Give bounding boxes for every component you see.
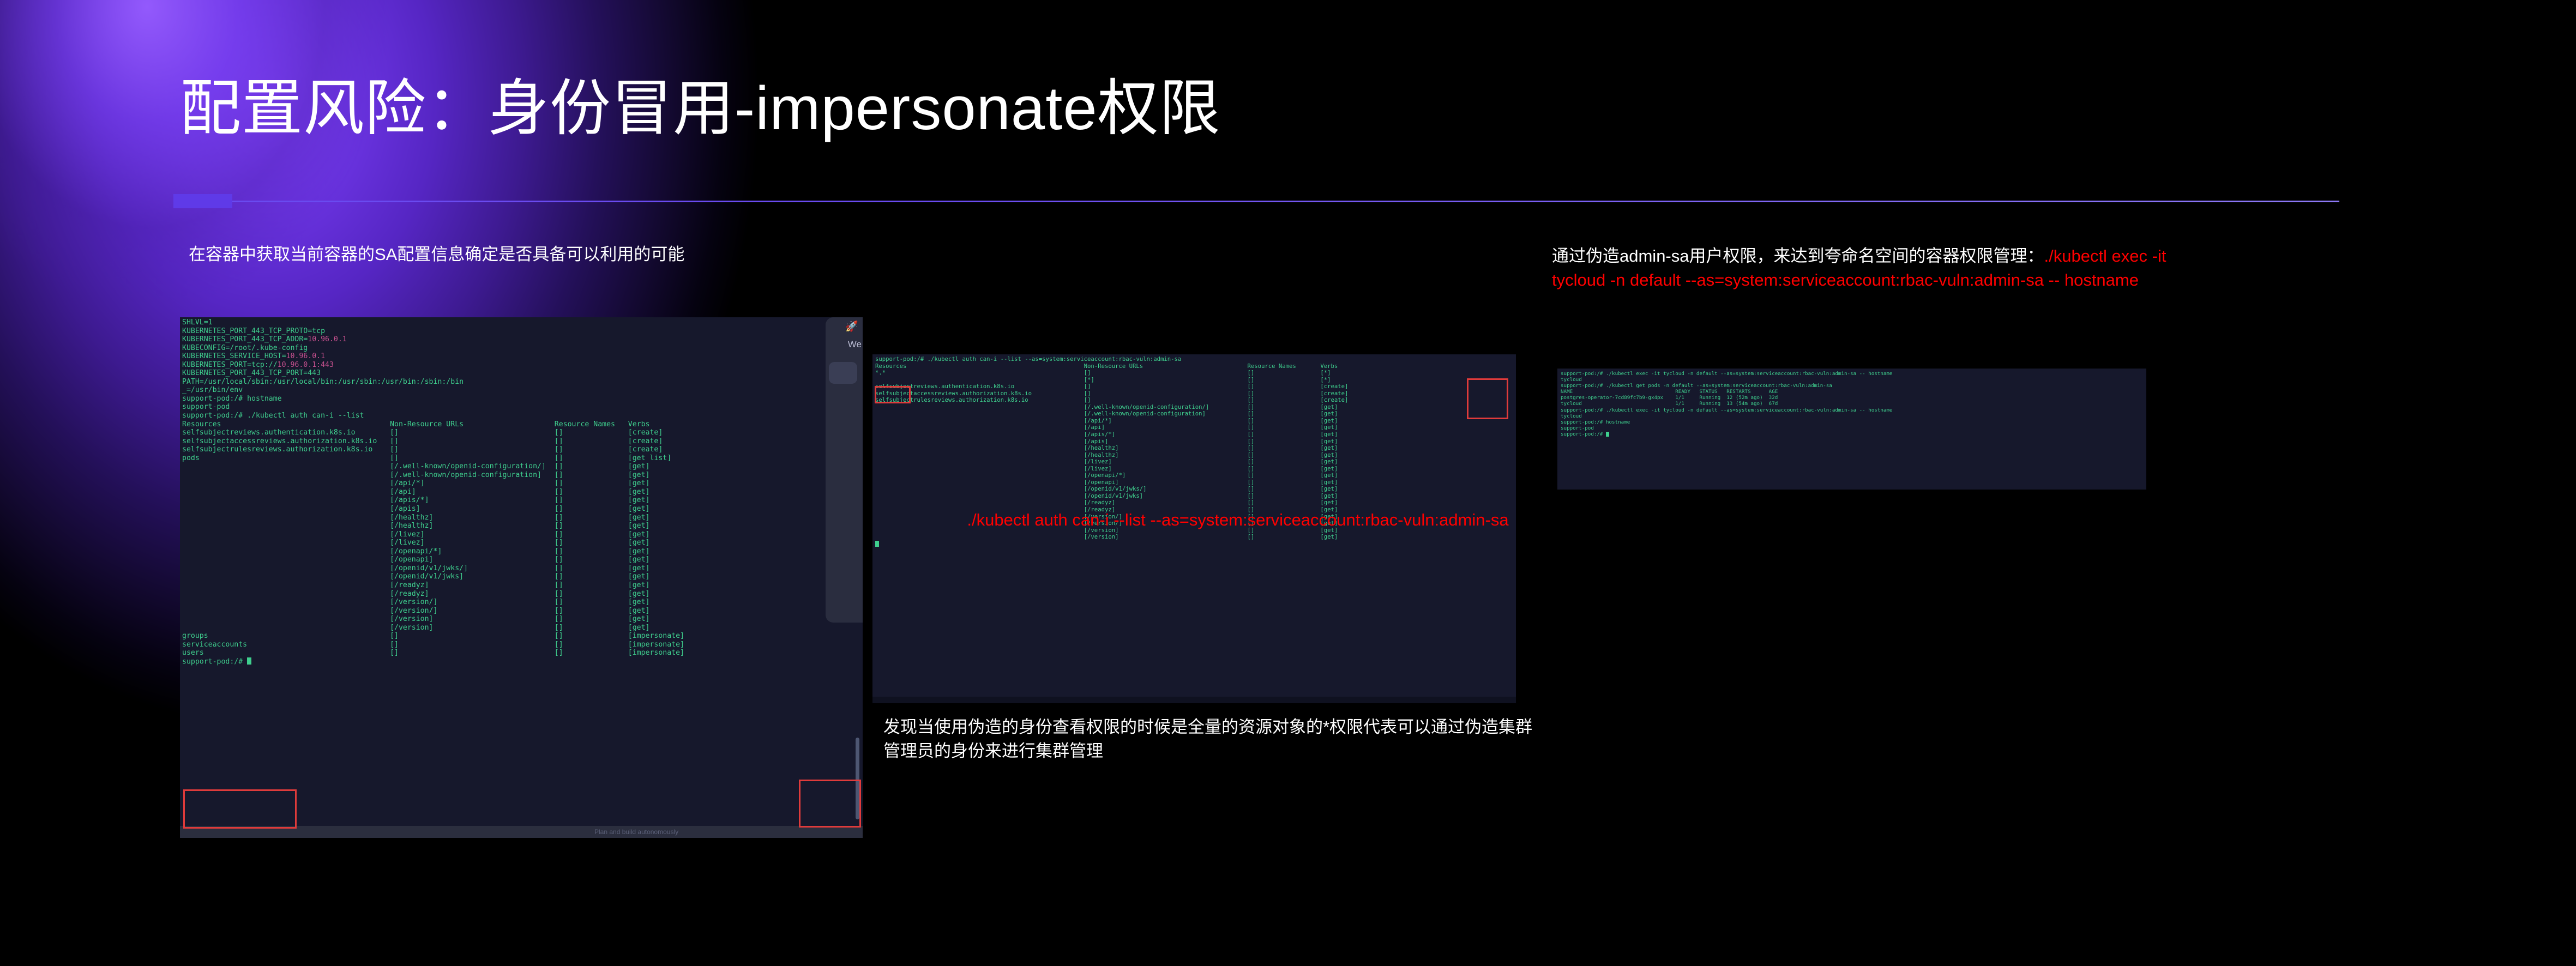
terminal-line: support-pod:/#: [1561, 431, 2146, 437]
terminal-line: PATH=/usr/local/sbin:/usr/local/bin:/usr…: [182, 378, 863, 387]
terminal-line: [/healthz] [] [get]: [875, 452, 1516, 459]
terminal-line: tycloud 1/1 Running 13 (54m ago) 67d: [1561, 401, 2146, 407]
terminal-line: [/version] [] [get]: [875, 534, 1516, 541]
terminal-line: support-pod:/#: [182, 657, 863, 666]
terminal-line: [/openapi/*] [] [get]: [875, 472, 1516, 479]
title-divider: [180, 201, 2339, 202]
terminal-line: [/openapi] [] [get]: [875, 479, 1516, 486]
title-divider-cap: [173, 194, 232, 208]
terminal-line: KUBERNETES_PORT_443_TCP_ADDR=10.96.0.1: [182, 335, 863, 344]
terminal-line: postgres-operator-7cd89fc7b9-gx4px 1/1 R…: [1561, 395, 2146, 401]
terminal-line: [/readyz] [] [get]: [182, 590, 863, 599]
terminal-line: [/readyz] [] [get]: [182, 581, 863, 590]
terminal-line: [/api] [] [get]: [875, 424, 1516, 431]
terminal-line: pods [] [] [get list]: [182, 454, 863, 463]
terminal-line: [/.well-known/openid-configuration] [] […: [875, 410, 1516, 418]
terminal-line: selfsubjectreviews.authentication.k8s.io…: [182, 428, 863, 437]
page-title: 配置风险：身份冒用-impersonate权限: [180, 74, 1221, 144]
terminal-line: [/.well-known/openid-configuration/] [] …: [182, 462, 863, 471]
terminal-line: KUBERNETES_PORT=tcp://10.96.0.1:443: [182, 361, 863, 370]
terminal-line: serviceaccounts [] [] [impersonate]: [182, 641, 863, 649]
sidepanel-button[interactable]: [829, 362, 857, 384]
annotation-command-middle: ./kubectl auth can-i --list --as=system:…: [916, 507, 1560, 533]
terminal-line: [/api/*] [] [get]: [182, 479, 863, 488]
terminal-line: [/openid/v1/jwks] [] [get]: [182, 572, 863, 581]
terminal-line: [/openapi/*] [] [get]: [182, 547, 863, 556]
terminal-line: [/openid/v1/jwks/] [] [get]: [875, 486, 1516, 493]
terminal-line: [/version/] [] [get]: [182, 598, 863, 607]
caption-left: 在容器中获取当前容器的SA配置信息确定是否具备可以利用的可能: [189, 243, 832, 267]
terminal-line: support-pod: [182, 403, 863, 412]
terminal-line: [/apis] [] [get]: [182, 505, 863, 514]
terminal-line: [*] [] [*]: [875, 377, 1516, 384]
terminal-line: [/apis/*] [] [get]: [182, 496, 863, 505]
terminal-line: [/openid/v1/jwks/] [] [get]: [182, 564, 863, 573]
terminal-line: support-pod:/# ./kubectl get pods -n def…: [1561, 383, 2146, 389]
terminal-right-output: support-pod:/# ./kubectl exec -it tyclou…: [1561, 371, 2146, 437]
terminal-line: tycloud: [1561, 377, 2146, 383]
terminal-line: [/version] [] [get]: [182, 624, 863, 632]
slide-canvas: 配置风险：身份冒用-impersonate权限 在容器中获取当前容器的SA配置信…: [0, 0, 2576, 966]
terminal-line: [875, 541, 1516, 548]
terminal-line: [/livez] [] [get]: [182, 539, 863, 547]
terminal-cursor: [247, 657, 251, 665]
terminal-left-output: SHLVL=1KUBERNETES_PORT_443_TCP_PROTO=tcp…: [182, 318, 863, 666]
terminal-line: [/api] [] [get]: [182, 488, 863, 497]
terminal-line: [/healthz] [] [get]: [182, 514, 863, 522]
terminal-left-status-text: Plan and build autonomously: [594, 828, 678, 837]
terminal-line: *.* [] [] [*]: [875, 370, 1516, 377]
terminal-window-left[interactable]: SHLVL=1KUBERNETES_PORT_443_TCP_PROTO=tcp…: [180, 317, 863, 838]
caption-middle: 发现当使用伪造的身份查看权限的时候是全量的资源对象的*权限代表可以通过伪造集群管…: [883, 715, 1535, 763]
terminal-line: support-pod:/# hostname: [1561, 419, 2146, 425]
terminal-line: [/.well-known/openid-configuration/] [] …: [875, 404, 1516, 411]
terminal-line: [/openid/v1/jwks] [] [get]: [875, 493, 1516, 500]
terminal-line: support-pod:/# hostname: [182, 395, 863, 403]
terminal-line: support-pod:/# ./kubectl exec -it tyclou…: [1561, 371, 2146, 377]
terminal-line: selfsubjectaccessreviews.authorization.k…: [875, 390, 1516, 397]
terminal-line: users [] [] [impersonate]: [182, 649, 863, 657]
terminal-cursor: [1606, 432, 1609, 437]
terminal-line: groups [] [] [impersonate]: [182, 632, 863, 641]
terminal-line: support-pod:/# ./kubectl auth can-i --li…: [875, 356, 1516, 363]
terminal-line: [/version/] [] [get]: [182, 607, 863, 615]
terminal-line: selfsubjectreviews.authentication.k8s.io…: [875, 383, 1516, 390]
terminal-line: [/openapi] [] [get]: [182, 556, 863, 564]
terminal-left-statusbar: [180, 826, 863, 838]
terminal-cursor: [875, 541, 879, 547]
terminal-line: [/livez] [] [get]: [875, 466, 1516, 473]
terminal-line: _=/usr/bin/env: [182, 386, 863, 395]
terminal-line: [/livez] [] [get]: [182, 530, 863, 539]
terminal-line: KUBECONFIG=/root/.kube-config: [182, 344, 863, 353]
terminal-window-right[interactable]: support-pod:/# ./kubectl exec -it tyclou…: [1557, 369, 2146, 490]
terminal-line: [/healthz] [] [get]: [875, 445, 1516, 452]
terminal-line: support-pod:/# ./kubectl exec -it tyclou…: [1561, 407, 2146, 413]
terminal-line: tycloud: [1561, 413, 2146, 419]
terminal-line: [/apis/*] [] [get]: [875, 431, 1516, 438]
terminal-line: support-pod: [1561, 425, 2146, 431]
terminal-line: Resources Non-Resource URLs Resource Nam…: [182, 420, 863, 429]
terminal-line: [/healthz] [] [get]: [182, 522, 863, 530]
caption-right-prefix: 通过伪造admin-sa用户权限，来达到夸命名空间的容器权限管理：: [1552, 246, 2044, 265]
terminal-line: [/api/*] [] [get]: [875, 418, 1516, 425]
terminal-line: selfsubjectaccessreviews.authorization.k…: [182, 437, 863, 446]
sidepanel-label: We: [848, 340, 862, 349]
rocket-icon: 🚀: [845, 323, 858, 331]
terminal-line: [/readyz] [] [get]: [875, 499, 1516, 506]
terminal-line: SHLVL=1: [182, 318, 863, 327]
terminal-left-scrollbar[interactable]: [856, 738, 859, 819]
terminal-line: [/apis] [] [get]: [875, 438, 1516, 445]
terminal-line: selfsubjectrulesreviews.authorization.k8…: [875, 397, 1516, 404]
terminal-line: NAME READY STATUS RESTARTS AGE: [1561, 389, 2146, 395]
terminal-line: [/.well-known/openid-configuration] [] […: [182, 471, 863, 480]
terminal-line: [/version] [] [get]: [182, 615, 863, 624]
terminal-line: KUBERNETES_PORT_443_TCP_PROTO=tcp: [182, 327, 863, 336]
caption-right: 通过伪造admin-sa用户权限，来达到夸命名空间的容器权限管理：./kubec…: [1552, 244, 2168, 292]
terminal-line: [/livez] [] [get]: [875, 458, 1516, 466]
terminal-line: support-pod:/# ./kubectl auth can-i --li…: [182, 412, 863, 420]
terminal-line: KUBERNETES_PORT_443_TCP_PORT=443: [182, 369, 863, 378]
terminal-line: selfsubjectrulesreviews.authorization.k8…: [182, 445, 863, 454]
terminal-line: Resources Non-Resource URLs Resource Nam…: [875, 363, 1516, 370]
terminal-line: KUBERNETES_SERVICE_HOST=10.96.0.1: [182, 352, 863, 361]
terminal-middle-statusbar: [872, 697, 1516, 703]
